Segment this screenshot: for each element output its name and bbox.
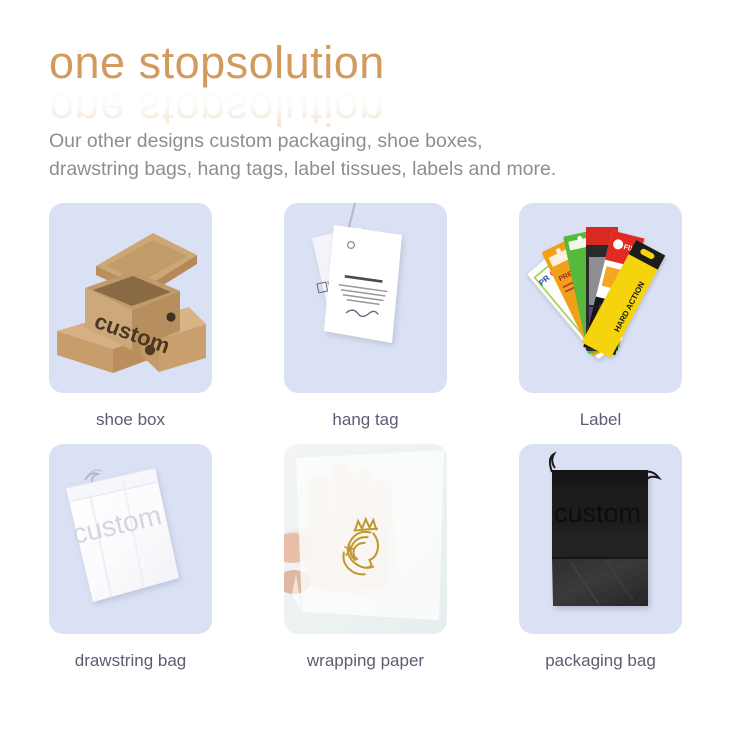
product-label-drawstring-bag: drawstring bag [49,651,212,671]
product-thumbnail-wrapping-paper[interactable] [284,444,447,634]
page-header: one stopsolution one stopsolution Our ot… [0,0,750,183]
product-card-label[interactable]: PR GH PREMIUM [519,203,682,430]
product-label-hang-tag: hang tag [284,410,447,430]
product-thumbnail-label[interactable]: PR GH PREMIUM [519,203,682,393]
headline-block: one stopsolution one stopsolution [49,40,750,112]
product-card-drawstring-bag[interactable]: custom drawstring bag [49,444,212,671]
page-title: one stopsolution [49,40,750,85]
hang-tag-illustration [284,203,447,393]
product-card-wrapping-paper[interactable]: wrapping paper [284,444,447,671]
subtitle-line-1: Our other designs custom packaging, shoe… [49,128,689,156]
product-thumbnail-shoe-box[interactable]: custom [49,203,212,393]
product-thumbnail-packaging-bag[interactable]: custom [519,444,682,634]
page-subtitle: Our other designs custom packaging, shoe… [49,128,689,183]
product-label-wrapping-paper: wrapping paper [284,651,447,671]
drawstring-bag-illustration: custom [49,444,212,634]
product-grid: custom shoe box [49,203,701,672]
product-label-packaging-bag: packaging bag [519,651,682,671]
product-card-hang-tag[interactable]: hang tag [284,203,447,430]
shoe-box-illustration: custom [49,203,212,393]
svg-text:custom: custom [554,498,641,528]
page-title-reflection: one stopsolution [49,87,385,132]
wrapping-paper-illustration [284,444,447,634]
product-label-shoe-box: shoe box [49,410,212,430]
label-fan-illustration: PR GH PREMIUM [519,203,682,393]
product-card-packaging-bag[interactable]: custom packaging bag [519,444,682,671]
product-card-shoe-box[interactable]: custom shoe box [49,203,212,430]
product-label-label: Label [519,410,682,430]
packaging-bag-illustration: custom [519,444,682,634]
subtitle-line-2: drawstring bags, hang tags, label tissue… [49,156,689,184]
product-thumbnail-hang-tag[interactable] [284,203,447,393]
product-thumbnail-drawstring-bag[interactable]: custom [49,444,212,634]
